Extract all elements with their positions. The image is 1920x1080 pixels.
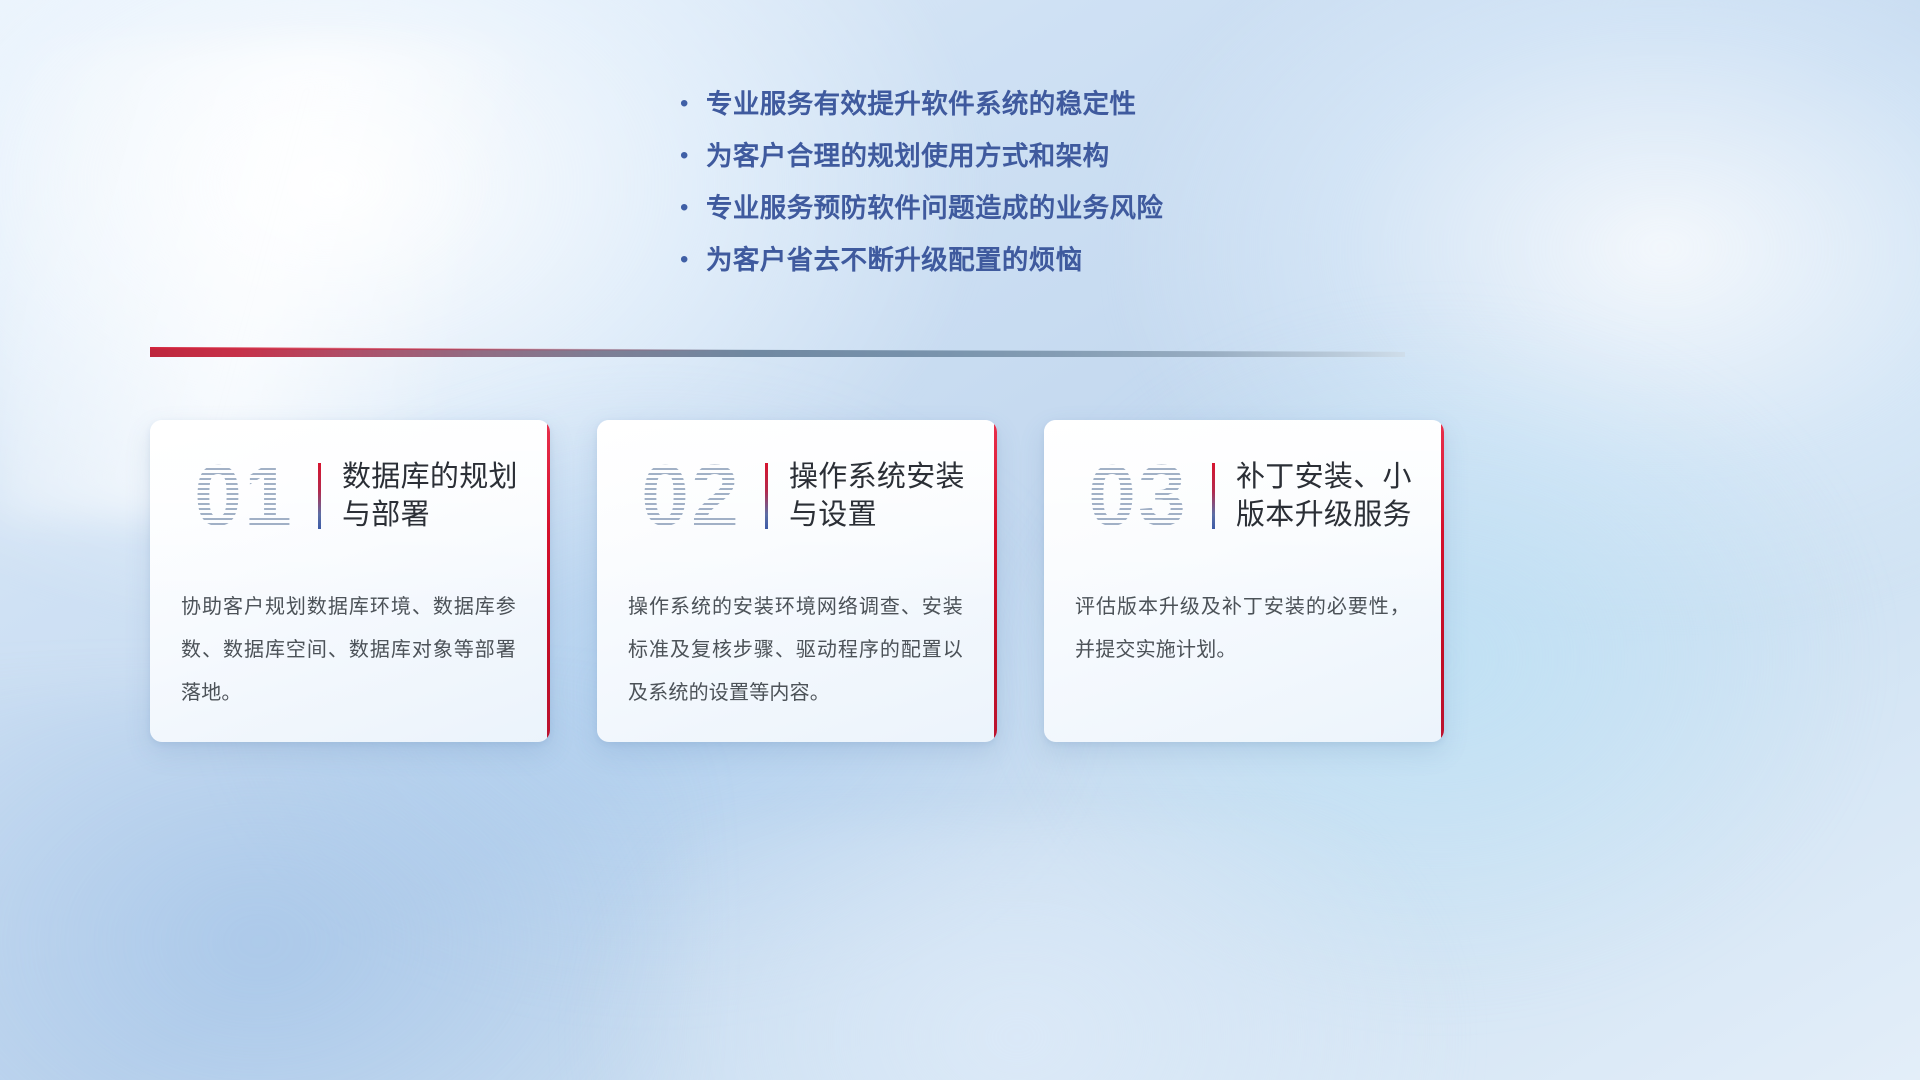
card-header: 03 补丁安装、小版本升级服务 — [1044, 420, 1444, 572]
card-title: 操作系统安装与设置 — [789, 458, 994, 535]
bullet-dot-icon: • — [680, 196, 706, 220]
bullet-dot-icon: • — [680, 144, 706, 168]
section-divider — [150, 344, 1405, 362]
card-number-watermark: 01 — [170, 453, 318, 539]
bullet-dot-icon: • — [680, 92, 706, 116]
card-accent-bar — [318, 463, 321, 529]
card-accent-bar — [1212, 463, 1215, 529]
card-body-text: 评估版本升级及补丁安装的必要性，并提交实施计划。 — [1075, 586, 1410, 672]
bullet-text: 为客户合理的规划使用方式和架构 — [706, 140, 1110, 173]
bullet-text: 专业服务有效提升软件系统的稳定性 — [706, 88, 1136, 121]
background-glow-bottom-mid — [576, 821, 1459, 1080]
card-accent-bar — [765, 463, 768, 529]
card-header: 01 数据库的规划与部署 — [150, 420, 550, 572]
list-item: • 为客户合理的规划使用方式和架构 — [680, 140, 1240, 173]
bullet-dot-icon: • — [680, 248, 706, 272]
service-card-02[interactable]: 02 操作系统安装与设置 操作系统的安装环境网络调查、安装标准及复核步骤、驱动程… — [597, 420, 997, 742]
list-item: • 为客户省去不断升级配置的烦恼 — [680, 244, 1240, 277]
card-body-text: 协助客户规划数据库环境、数据库参数、数据库空间、数据库对象等部署落地。 — [181, 586, 516, 714]
card-title: 数据库的规划与部署 — [342, 458, 547, 535]
card-title: 补丁安装、小版本升级服务 — [1236, 458, 1441, 535]
benefits-bullet-list: • 专业服务有效提升软件系统的稳定性 • 为客户合理的规划使用方式和架构 • 专… — [0, 88, 1920, 297]
card-body-text: 操作系统的安装环境网络调查、安装标准及复核步骤、驱动程序的配置以及系统的设置等内… — [628, 586, 963, 714]
list-item: • 专业服务预防软件问题造成的业务风险 — [680, 192, 1240, 225]
card-number-watermark: 03 — [1064, 453, 1212, 539]
service-card-group: 01 数据库的规划与部署 协助客户规划数据库环境、数据库参数、数据库空间、数据库… — [150, 420, 1444, 742]
service-card-01[interactable]: 01 数据库的规划与部署 协助客户规划数据库环境、数据库参数、数据库空间、数据库… — [150, 420, 550, 742]
list-item: • 专业服务有效提升软件系统的稳定性 — [680, 88, 1240, 121]
bullet-text: 为客户省去不断升级配置的烦恼 — [706, 244, 1083, 277]
card-header: 02 操作系统安装与设置 — [597, 420, 997, 572]
bullet-text: 专业服务预防软件问题造成的业务风险 — [706, 192, 1163, 225]
card-number-watermark: 02 — [617, 453, 765, 539]
service-card-03[interactable]: 03 补丁安装、小版本升级服务 评估版本升级及补丁安装的必要性，并提交实施计划。 — [1044, 420, 1444, 742]
